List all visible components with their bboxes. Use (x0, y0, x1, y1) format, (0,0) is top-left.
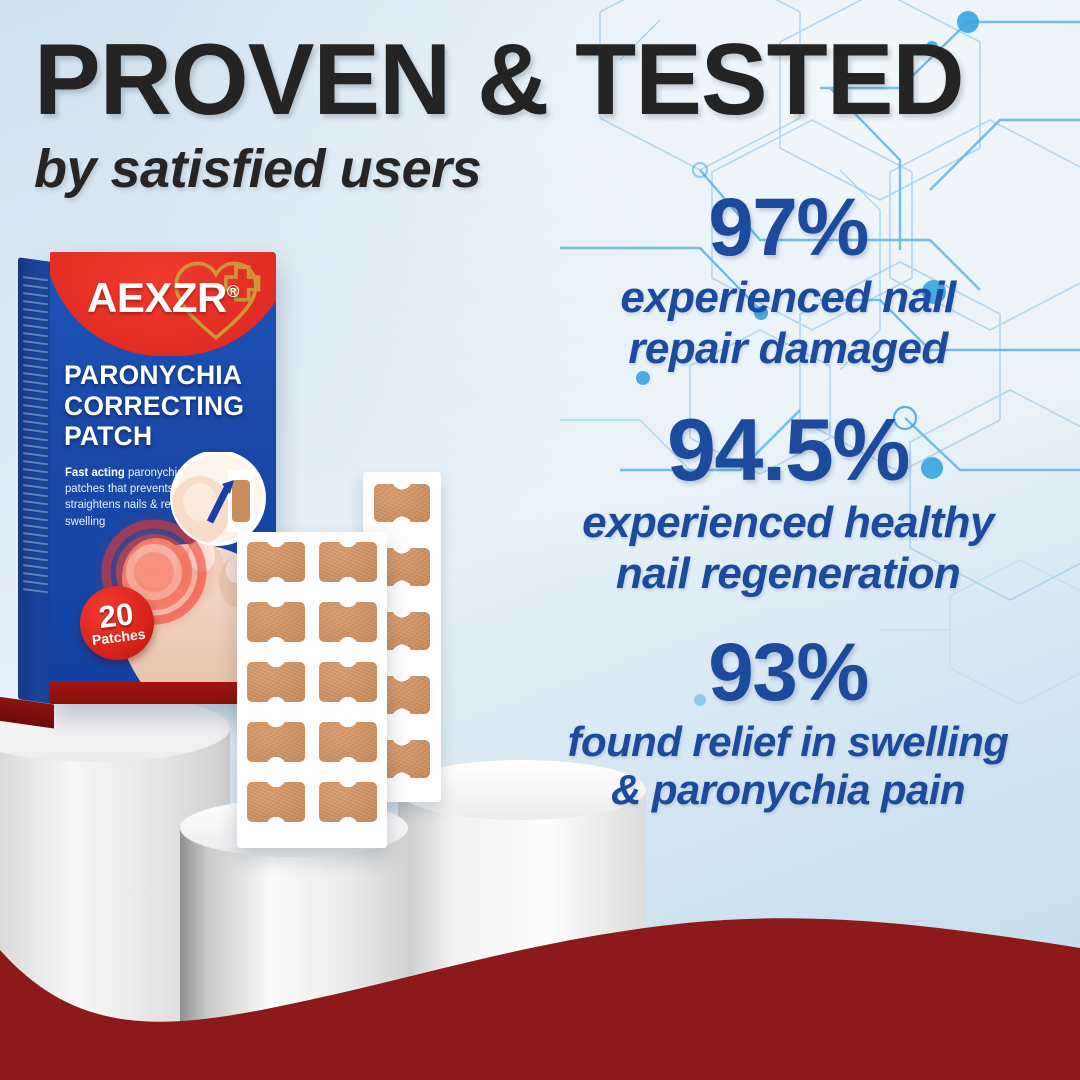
brand-name: AEXZR® (50, 274, 276, 322)
patch-application-inset (170, 452, 264, 544)
patch (319, 722, 377, 762)
patch (247, 722, 305, 762)
stat-value-1: 97% (508, 186, 1068, 270)
stat-item-2: 94.5% experienced healthy nail regenerat… (508, 405, 1068, 597)
patch-sheet-front (237, 532, 387, 848)
stat-description-3-line2: & paronychia pain (508, 769, 1068, 812)
bottom-red-wave (0, 890, 1080, 1080)
product-title-line2: CORRECTING (64, 391, 266, 422)
patch (374, 484, 430, 522)
patch (247, 602, 305, 642)
stat-value-2: 94.5% (508, 405, 1068, 495)
stat-description-1-line2: repair damaged (508, 327, 1068, 372)
patch (247, 662, 305, 702)
trademark-symbol: ® (227, 282, 239, 301)
product-title-line3: PATCH (64, 421, 266, 452)
stat-item-3: 93% found relief in swelling & paronychi… (508, 631, 1068, 812)
stat-item-1: 97% experienced nail repair damaged (508, 186, 1068, 371)
patch (319, 602, 377, 642)
statistics-list: 97% experienced nail repair damaged 94.5… (508, 186, 1068, 812)
stat-description-3-line1: found relief in swelling (508, 721, 1068, 764)
stat-description-1-line1: experienced nail (508, 276, 1068, 321)
patch (247, 542, 305, 582)
brand-text: AEXZR (87, 274, 227, 321)
stat-value-3: 93% (508, 631, 1068, 715)
patch (319, 662, 377, 702)
patch (319, 782, 377, 822)
product-title-line1: PARONYCHIA (64, 360, 266, 391)
product-box-side-panel (18, 257, 52, 704)
promo-image-canvas: PROVEN & TESTED by satisfied users (0, 0, 1080, 1080)
side-panel-text-lines (23, 276, 48, 600)
patch (319, 542, 377, 582)
patch (247, 782, 305, 822)
badge-count-label: Patches (91, 627, 146, 647)
stat-description-2-line1: experienced healthy (508, 501, 1068, 546)
product-title: PARONYCHIA CORRECTING PATCH (64, 360, 266, 452)
stat-description-2-line2: nail regeneration (508, 552, 1068, 597)
badge-count-value: 20 (97, 600, 135, 632)
